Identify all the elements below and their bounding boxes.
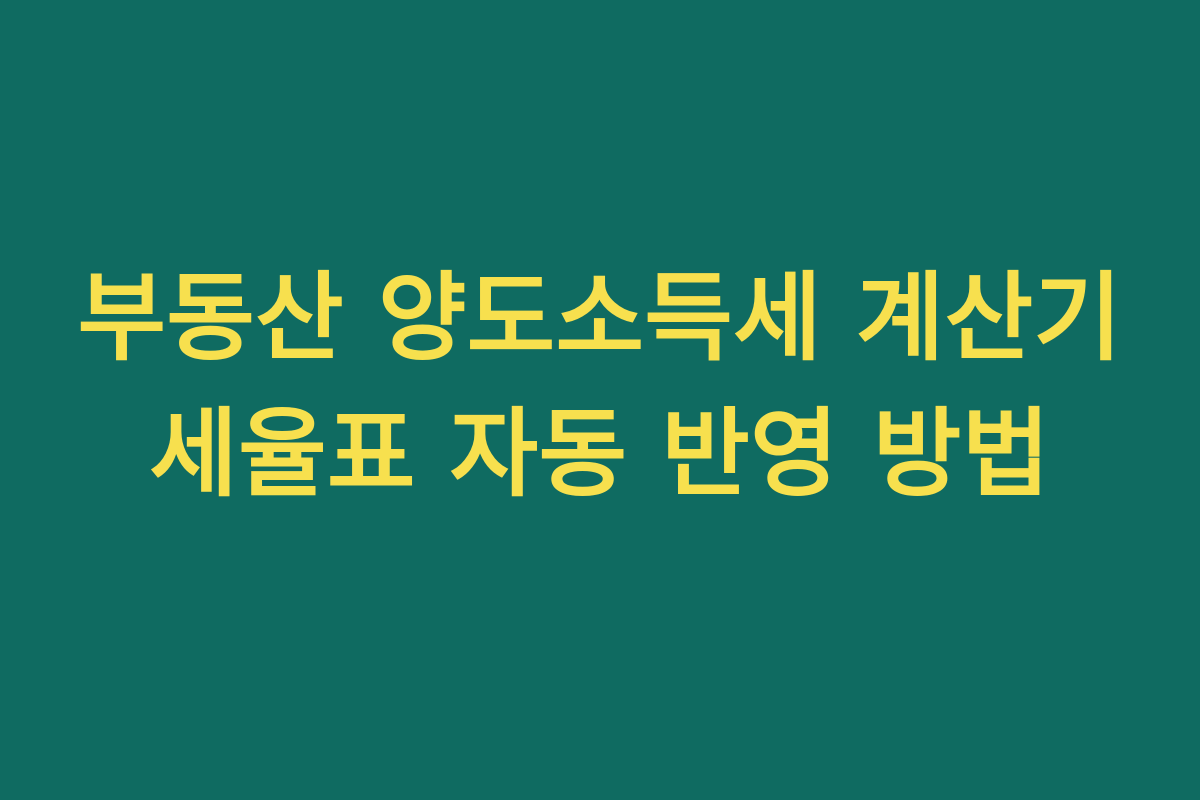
thumbnail-canvas: 부동산 양도소득세 계산기 세율표 자동 반영 방법 bbox=[0, 0, 1200, 800]
page-title: 부동산 양도소득세 계산기 세율표 자동 반영 방법 bbox=[70, 250, 1130, 523]
title-block: 부동산 양도소득세 계산기 세율표 자동 반영 방법 bbox=[70, 250, 1130, 523]
